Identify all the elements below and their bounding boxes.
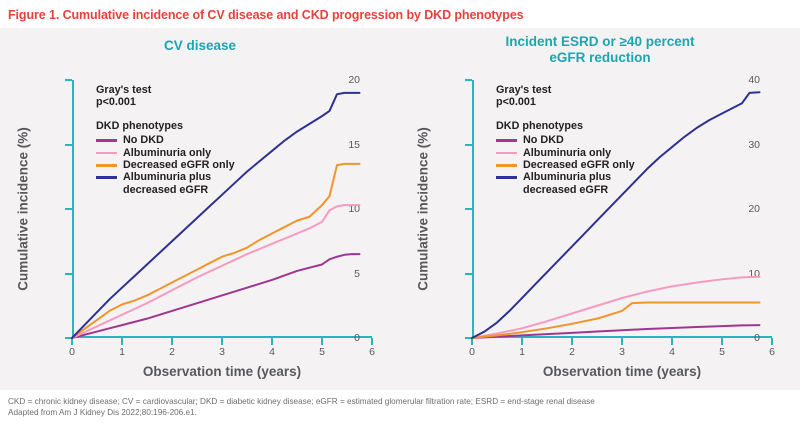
legend-swatch-icon: [496, 139, 517, 142]
x-tick-label: 5: [710, 346, 734, 358]
legend-item-label: No DKD: [123, 134, 164, 146]
legend-item[interactable]: Albuminuria plus: [96, 171, 235, 183]
legend-swatch-icon: [96, 176, 117, 179]
y-tick: [65, 79, 72, 81]
panel-title-right: Incident ESRD or ≥40 percent eGFR reduct…: [400, 34, 800, 66]
grays-test-label-left: Gray's test: [96, 84, 235, 96]
x-tick-label: 1: [110, 346, 134, 358]
x-axis-label-right: Observation time (years): [472, 364, 772, 379]
figure-title: Figure 1. Cumulative incidence of CV dis…: [8, 8, 524, 22]
legend-swatch-icon: [96, 164, 117, 167]
legend-item-label: No DKD: [523, 134, 564, 146]
x-tick: [371, 338, 373, 345]
y-axis-label-left: Cumulative incidence (%): [16, 127, 31, 291]
legend-entries-right: No DKDAlbuminuria onlyDecreased eGFR onl…: [496, 134, 635, 196]
grays-test-pvalue-left: p<0.001: [96, 96, 235, 108]
legend-entries-left: No DKDAlbuminuria onlyDecreased eGFR onl…: [96, 134, 235, 196]
grays-test-pvalue-right: p<0.001: [496, 96, 635, 108]
x-tick: [71, 338, 73, 345]
panel-title-left: CV disease: [0, 38, 400, 54]
legend-swatch-icon: [96, 139, 117, 142]
x-tick-label: 2: [560, 346, 584, 358]
grays-test-left: Gray's test p<0.001: [96, 84, 235, 109]
x-tick: [771, 338, 773, 345]
y-tick: [65, 208, 72, 210]
y-tick: [465, 208, 472, 210]
plot-area: CV disease Cumulative incidence (%) 0510…: [0, 28, 800, 390]
panel-title-right-line2: eGFR reduction: [400, 50, 800, 66]
legend-swatch-icon: [496, 152, 517, 155]
y-axis-label-right-wrap: Cumulative incidence (%): [414, 80, 432, 338]
legend-item-label: Albuminuria plus: [523, 171, 611, 183]
legend-item-label-continued: decreased eGFR: [523, 184, 635, 196]
legend-item-label: Albuminuria only: [123, 147, 211, 159]
x-tick-label: 1: [510, 346, 534, 358]
legend-item-label: Decreased eGFR only: [123, 159, 235, 171]
legend-item[interactable]: Decreased eGFR only: [496, 159, 635, 171]
x-tick-label: 5: [310, 346, 334, 358]
x-tick-label: 3: [210, 346, 234, 358]
y-axis-label-left-wrap: Cumulative incidence (%): [14, 80, 32, 338]
footnote-source: Adapted from Am J Kidney Dis 2022;80:196…: [8, 407, 595, 418]
legend-item-label-continued: decreased eGFR: [123, 184, 235, 196]
x-tick: [221, 338, 223, 345]
legend-item[interactable]: Decreased eGFR only: [96, 159, 235, 171]
series-line: [472, 325, 760, 338]
legend-left: Gray's test p<0.001 DKD phenotypes No DK…: [96, 84, 235, 196]
y-axis-label-right: Cumulative incidence (%): [416, 127, 431, 291]
x-tick-label: 6: [360, 346, 384, 358]
x-tick: [621, 338, 623, 345]
y-tick: [65, 273, 72, 275]
x-tick: [171, 338, 173, 345]
legend-item-label: Albuminuria only: [523, 147, 611, 159]
legend-item[interactable]: No DKD: [96, 134, 235, 146]
y-tick: [465, 273, 472, 275]
panel-title-left-line1: CV disease: [0, 38, 400, 54]
x-tick: [521, 338, 523, 345]
x-tick: [571, 338, 573, 345]
legend-item[interactable]: Albuminuria plus: [496, 171, 635, 183]
series-line: [72, 254, 360, 338]
legend-swatch-icon: [496, 164, 517, 167]
x-tick-label: 4: [260, 346, 284, 358]
legend-item[interactable]: Albuminuria only: [496, 147, 635, 159]
legend-item[interactable]: No DKD: [496, 134, 635, 146]
legend-title-right: DKD phenotypes: [496, 120, 635, 132]
grays-test-label-right: Gray's test: [496, 84, 635, 96]
x-tick-label: 0: [460, 346, 484, 358]
y-tick: [465, 144, 472, 146]
x-tick: [321, 338, 323, 345]
x-tick-label: 6: [760, 346, 784, 358]
x-axis-label-left: Observation time (years): [72, 364, 372, 379]
panel-title-right-line1: Incident ESRD or ≥40 percent: [400, 34, 800, 50]
x-tick-label: 3: [610, 346, 634, 358]
x-tick: [271, 338, 273, 345]
panel-esrd-egfr: Incident ESRD or ≥40 percent eGFR reduct…: [400, 28, 800, 390]
x-tick-label: 0: [60, 346, 84, 358]
legend-right: Gray's test p<0.001 DKD phenotypes No DK…: [496, 84, 635, 196]
series-line: [472, 303, 760, 338]
series-line: [72, 205, 360, 338]
legend-item-label: Decreased eGFR only: [523, 159, 635, 171]
panel-cv-disease: CV disease Cumulative incidence (%) 0510…: [0, 28, 400, 390]
legend-swatch-icon: [496, 176, 517, 179]
legend-item-label: Albuminuria plus: [123, 171, 211, 183]
x-tick-label: 2: [160, 346, 184, 358]
x-tick: [471, 338, 473, 345]
y-tick: [465, 79, 472, 81]
series-line: [472, 277, 760, 338]
x-tick: [721, 338, 723, 345]
y-tick: [65, 144, 72, 146]
x-tick: [671, 338, 673, 345]
legend-item[interactable]: Albuminuria only: [96, 147, 235, 159]
figure-root: Figure 1. Cumulative incidence of CV dis…: [0, 0, 800, 436]
x-tick-label: 4: [660, 346, 684, 358]
x-tick: [121, 338, 123, 345]
legend-title-left: DKD phenotypes: [96, 120, 235, 132]
legend-swatch-icon: [96, 152, 117, 155]
footnotes: CKD = chronic kidney disease; CV = cardi…: [8, 396, 595, 418]
grays-test-right: Gray's test p<0.001: [496, 84, 635, 109]
footnote-abbreviations: CKD = chronic kidney disease; CV = cardi…: [8, 396, 595, 407]
